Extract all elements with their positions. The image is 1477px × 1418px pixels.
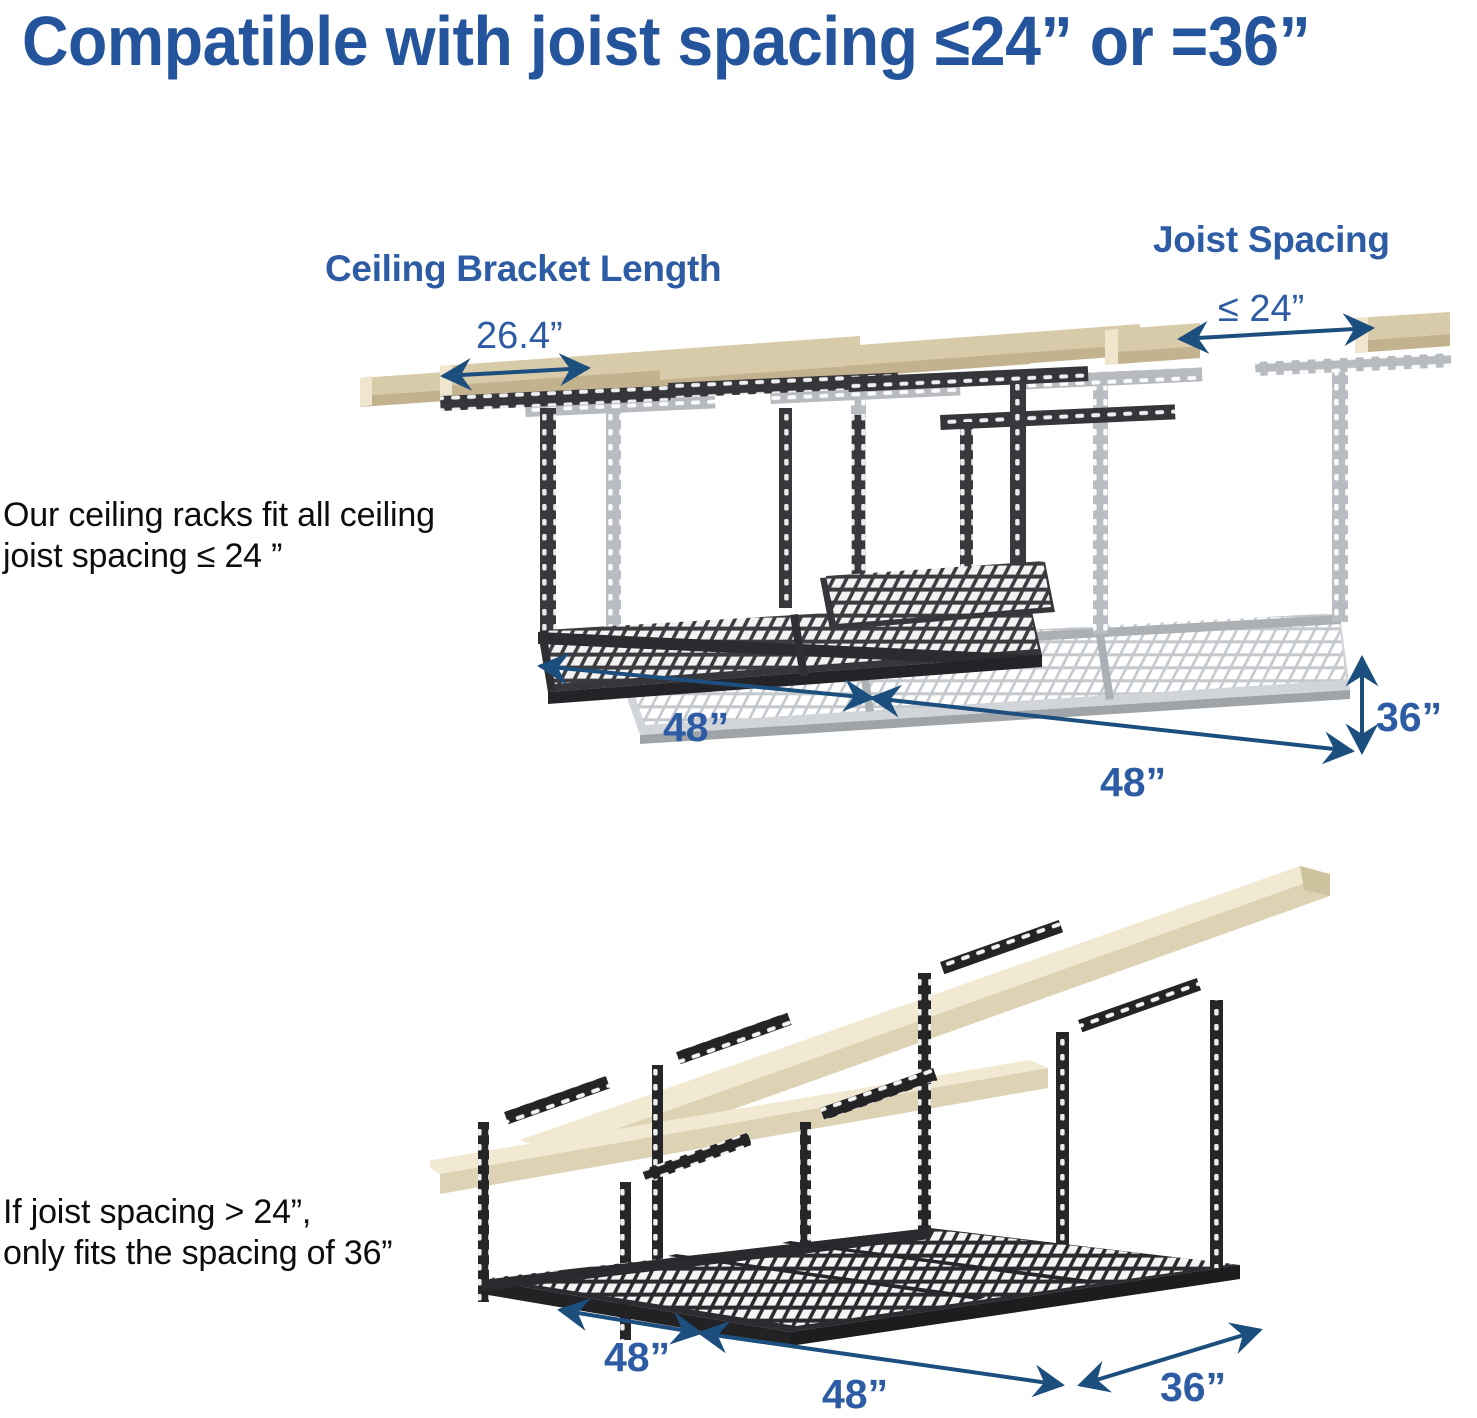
dimension-bottom-width-left: 48” [604, 1334, 670, 1381]
post-back-3 [918, 973, 931, 1243]
ghost-post-mid2 [1093, 386, 1108, 634]
caption-bottom: If joist spacing > 24”, only fits the sp… [3, 1192, 523, 1274]
dimension-bottom-width-right: 48” [822, 1371, 888, 1418]
post-front-left [540, 408, 556, 643]
ghost-post-right [1332, 372, 1348, 622]
joist-5 [1105, 323, 1200, 365]
label-ceiling-bracket-length: Ceiling Bracket Length [325, 248, 721, 290]
bracket-front-3 [1078, 978, 1201, 1032]
page-headline: Compatible with joist spacing ≤24” or =3… [22, 0, 1356, 84]
dimension-bottom-depth: 36” [1160, 1364, 1226, 1411]
dimension-top-width-right: 48” [1100, 759, 1166, 806]
bottom-diagram-illustration [430, 840, 1477, 1400]
caption-top: Our ceiling racks fit all ceiling joist … [3, 495, 523, 577]
post-back-left [779, 408, 792, 608]
dimension-top-height: 36” [1376, 694, 1442, 741]
bracket-back-left [940, 404, 1175, 430]
dimension-top-width-left: 48” [663, 704, 729, 751]
ghost-bracket-4 [1255, 353, 1451, 376]
post-right-deck [1210, 1000, 1223, 1268]
joist-4 [845, 324, 1140, 377]
dimension-bracket-length: 26.4” [476, 315, 563, 358]
dimension-joist-spacing: ≤ 24” [1218, 288, 1304, 331]
ghost-post-left [606, 412, 621, 658]
label-joist-spacing: Joist Spacing [1153, 219, 1390, 261]
joist-6 [1355, 312, 1450, 353]
